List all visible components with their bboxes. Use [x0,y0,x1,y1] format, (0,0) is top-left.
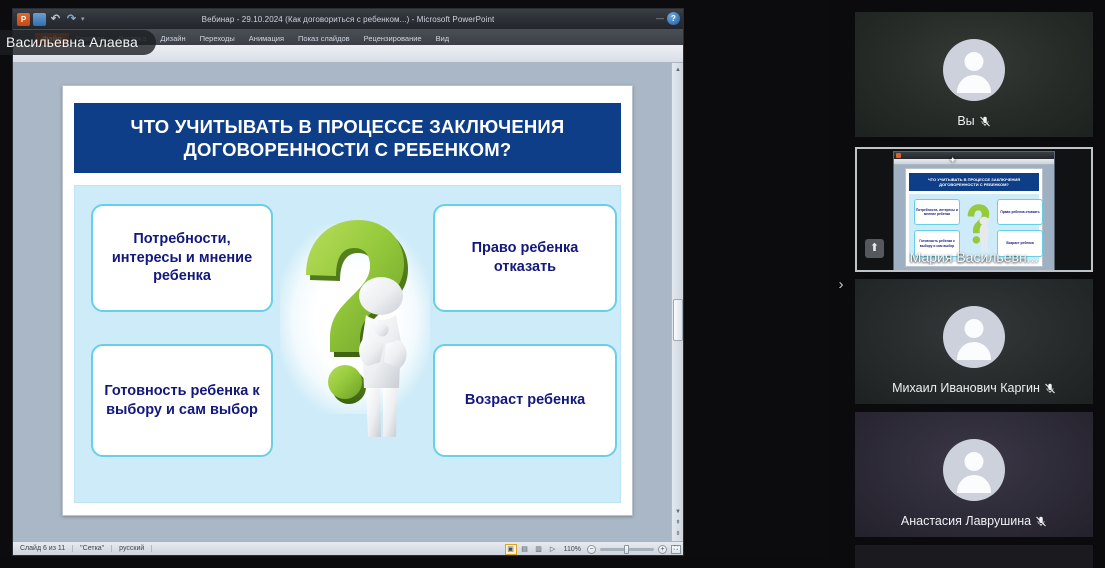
content-box-child-age[interactable]: Возраст ребенка [433,344,617,457]
quick-access-toolbar[interactable]: P ↶ ↷ ▾ [13,13,85,26]
shared-screen-region[interactable]: P ↶ ↷ ▾ Вебинар - 29.10.2024 (Как догово… [0,0,828,558]
question-mark-figure-svg [280,212,430,462]
mic-off-icon [1044,382,1056,395]
powerpoint-status-bar: Слайд 6 из 11 "Сетка" русский ▣ ▤ ▥ ▷ 11… [13,541,683,555]
participant-name: Вы [957,114,974,128]
zoom-slider[interactable] [600,548,654,551]
tile-next-partial[interactable] [855,545,1093,568]
slide-counter: Слайд 6 из 11 [13,545,73,552]
scroll-down-arrow-icon[interactable]: ▼ [674,509,682,515]
mini-content-box-1: Потребности, интересы и мнение ребенка [914,199,960,225]
participant-name: Михаил Иванович Каргин [892,381,1040,395]
save-icon[interactable] [33,13,46,26]
content-box-needs-interests[interactable]: Потребности, интересы и мнение ребенка [91,204,273,312]
participant-label: Анастасия Лаврушина [855,514,1093,528]
question-mark-with-thinking-figure-icon [280,194,430,484]
participant-label: Михаил Иванович Каргин [855,381,1093,395]
powerpoint-window[interactable]: P ↶ ↷ ▾ Вебинар - 29.10.2024 (Как догово… [12,8,684,556]
participant-name: Мария Васильевн... [910,249,1039,265]
language-indicator[interactable]: русский [112,545,152,552]
collapse-panel-chevron-right-icon[interactable]: › [832,272,850,296]
slide-surface[interactable]: ЧТО УЧИТЫВАТЬ В ПРОЦЕССЕ ЗАКЛЮЧЕНИЯ ДОГО… [62,85,633,516]
tile-mihail-ivanovich[interactable]: Михаил Иванович Каргин [855,279,1093,404]
powerpoint-title-bar: P ↶ ↷ ▾ Вебинар - 29.10.2024 (Как догово… [13,9,683,29]
zoom-in-button[interactable]: + [658,545,667,554]
avatar [943,306,1005,368]
slide-vertical-scrollbar[interactable]: ▲ ▼ ⇞ ⇟ [671,63,683,541]
scroll-up-arrow-icon[interactable]: ▲ [674,67,682,73]
zoom-slider-handle[interactable] [624,545,629,554]
zoom-level-label: 110% [562,546,583,553]
tile-you[interactable]: Вы [855,12,1093,137]
slide-content-area: Потребности, интересы и мнение ребенка П… [74,185,621,503]
participant-label: Вы [855,114,1093,128]
tile-maria-vasilevna[interactable]: ЧТО УЧИТЫВАТЬ В ПРОЦЕССЕ ЗАКЛЮЧЕНИЯ ДОГО… [855,147,1093,272]
ribbon-tab-animations[interactable]: Анимация [242,33,291,45]
participant-name: Анастасия Лаврушина [901,514,1031,528]
participants-filmstrip[interactable]: Вы ЧТО УЧИТЫВАТЬ В ПРОЦЕССЕ ЗАКЛЮЧЕНИЯ Д… [855,0,1105,568]
avatar [943,39,1005,101]
mini-content-box-2: Право ребенка отказать [997,199,1043,225]
mic-off-icon [979,115,991,128]
content-box-grid: Потребности, интересы и мнение ребенка П… [75,186,620,502]
mic-off-icon [1035,515,1047,528]
speaker-name-overlay: Васильевна Алаева [0,30,156,55]
ribbon-tab-design[interactable]: Дизайн [153,33,192,45]
ribbon-tab-transitions[interactable]: Переходы [193,33,242,45]
help-icon[interactable]: ? [667,12,680,25]
reading-view-icon[interactable]: ▥ [534,545,544,554]
thinking-figure [359,277,407,437]
content-box-readiness-to-choose[interactable]: Готовность ребенка к выбору и сам выбор [91,344,273,457]
slide-title[interactable]: ЧТО УЧИТЫВАТЬ В ПРОЦЕССЕ ЗАКЛЮЧЕНИЯ ДОГО… [74,103,621,173]
content-box-right-to-refuse[interactable]: Право ребенка отказать [433,204,617,312]
slide-editing-canvas[interactable]: ЧТО УЧИТЫВАТЬ В ПРОЦЕССЕ ЗАКЛЮЧЕНИЯ ДОГО… [13,63,683,541]
powerpoint-logo-icon[interactable]: P [17,13,30,26]
window-title: Вебинар - 29.10.2024 (Как договориться с… [13,15,683,24]
normal-view-icon[interactable]: ▣ [506,545,516,554]
mouse-cursor-icon: ✦ [949,155,957,166]
ribbon-tab-view[interactable]: Вид [429,33,457,45]
redo-icon[interactable]: ↷ [65,13,78,26]
theme-name: "Сетка" [73,545,112,552]
avatar [943,439,1005,501]
mini-title-bar [894,152,1054,159]
slideshow-icon[interactable]: ▷ [548,545,558,554]
minimize-button[interactable]: — [656,14,664,23]
mini-powerpoint-logo-icon [896,153,901,158]
mini-slide-title: ЧТО УЧИТЫВАТЬ В ПРОЦЕССЕ ЗАКЛЮЧЕНИЯ ДОГО… [909,173,1039,191]
zoom-out-button[interactable]: − [587,545,596,554]
scrollbar-thumb[interactable] [673,299,683,341]
tile-anastasia-lavrushina[interactable]: Анастасия Лаврушина [855,412,1093,537]
undo-icon[interactable]: ↶ [49,13,62,26]
meeting-screen: P ↶ ↷ ▾ Вебинар - 29.10.2024 (Как догово… [0,0,1105,568]
window-controls[interactable]: — ? [656,12,680,25]
fit-slide-to-window-button[interactable]: ⛶ [671,545,681,554]
slide-sorter-icon[interactable]: ▤ [520,545,530,554]
mini-ribbon [894,159,1054,165]
customize-caret-icon[interactable]: ▾ [81,15,85,23]
ribbon-tab-review[interactable]: Рецензирование [357,33,429,45]
ribbon-tab-slideshow[interactable]: Показ слайдов [291,33,357,45]
participant-label: Мария Васильевн... [857,249,1091,265]
next-slide-icon[interactable]: ⇟ [674,530,682,537]
status-bar-right-group[interactable]: ▣ ▤ ▥ ▷ 110% − + ⛶ [506,542,681,556]
previous-slide-icon[interactable]: ⇞ [674,519,682,526]
